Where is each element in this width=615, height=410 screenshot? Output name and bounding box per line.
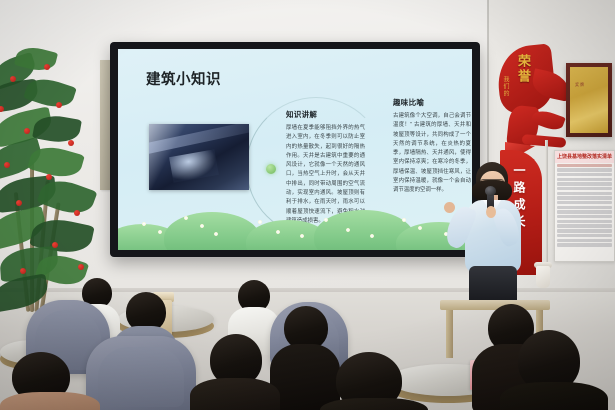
column-heading: 趣味比喻	[393, 97, 471, 108]
notice-board-rows	[555, 163, 614, 249]
student-5	[190, 334, 280, 410]
slide-canvas: 建筑小知识 知识讲解 厚墙在夏季能够阻挡外界的热气进入室内，在冬季则可以防止室内…	[118, 49, 472, 250]
paper-cup	[536, 266, 550, 288]
microphone-head	[485, 186, 496, 196]
column-heading: 知识讲解	[286, 109, 365, 120]
student-0	[0, 352, 96, 410]
banner-pole	[545, 140, 548, 280]
plaque-face: 奖牌	[570, 67, 608, 133]
slide-photo-skylight	[149, 124, 249, 190]
notice-board: 上饶县基地整改落实清单	[554, 150, 615, 262]
armchair-center-front	[86, 336, 196, 410]
presentation-room-scene: 建筑小知识 知识讲解 厚墙在夏季能够阻挡外界的热气进入室内，在冬季则可以防止室内…	[0, 0, 615, 410]
student-8	[500, 330, 604, 410]
ribbon-main-text: 荣誉	[514, 54, 533, 84]
ribbon-sub-text: 我们的	[501, 76, 510, 97]
slide-title: 建筑小知识	[146, 68, 221, 89]
presenter-figure	[455, 162, 533, 307]
wall-display-screen[interactable]: 建筑小知识 知识讲解 厚墙在夏季能够阻挡外界的热气进入室内，在冬季则可以防止室内…	[110, 42, 480, 257]
student-6	[320, 352, 424, 410]
presenter-left-hand	[444, 202, 455, 213]
notice-board-title: 上饶县基地整改落实清单	[555, 151, 614, 163]
plaque-label: 奖牌	[570, 67, 608, 103]
presenter-right-hand	[486, 206, 496, 218]
potted-tree-plant	[0, 24, 114, 312]
decorative-dot	[266, 164, 276, 174]
award-plaque-frame: 奖牌	[566, 63, 612, 137]
slide-hills-decoration	[118, 208, 472, 250]
honor-ribbon-decal: 荣誉 我们的	[492, 32, 570, 154]
